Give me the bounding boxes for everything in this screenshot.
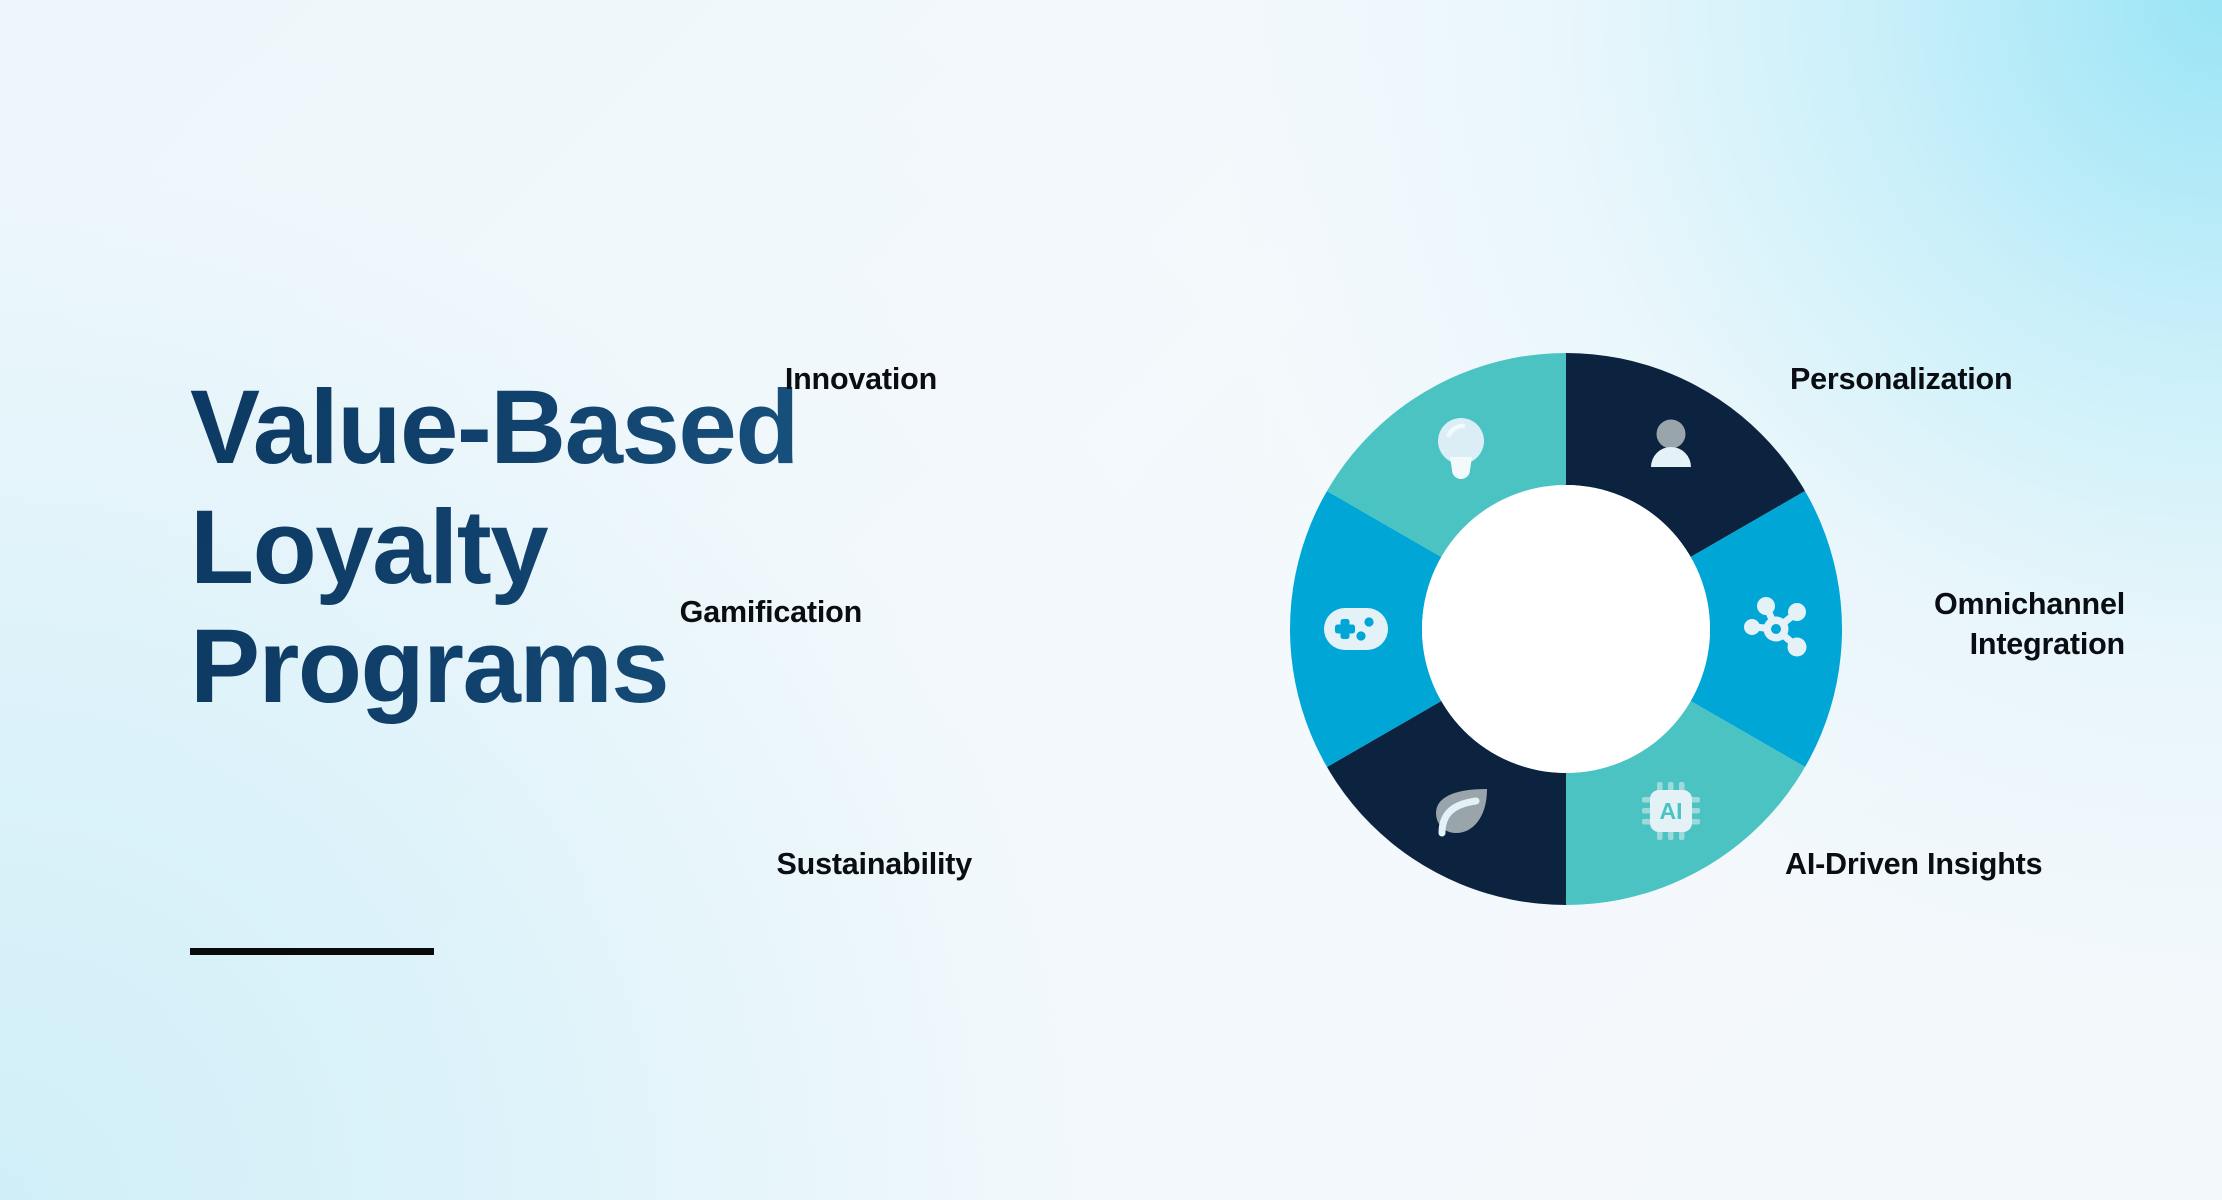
title-block: Value-Based Loyalty Programs (190, 368, 970, 727)
segment-label-innovation[interactable]: Innovation (785, 360, 937, 400)
title-underline-divider (190, 948, 434, 955)
infographic-canvas: Value-Based Loyalty Programs (0, 0, 2222, 1200)
segment-label-sustainability[interactable]: Sustainability (777, 845, 973, 885)
donut-chart: AI (1285, 348, 1847, 910)
page-title: Value-Based Loyalty Programs (190, 368, 970, 727)
segment-label-ai-insights[interactable]: AI-Driven Insights (1785, 845, 2042, 885)
segment-label-personalization[interactable]: Personalization (1790, 360, 2012, 400)
gamepad-icon (1324, 608, 1388, 650)
segment-label-omnichannel[interactable]: Omnichannel Integration (1880, 585, 2125, 664)
donut-center-hole (1422, 485, 1710, 773)
ai-chip-label: AI (1660, 798, 1683, 824)
segment-label-gamification[interactable]: Gamification (680, 593, 862, 633)
